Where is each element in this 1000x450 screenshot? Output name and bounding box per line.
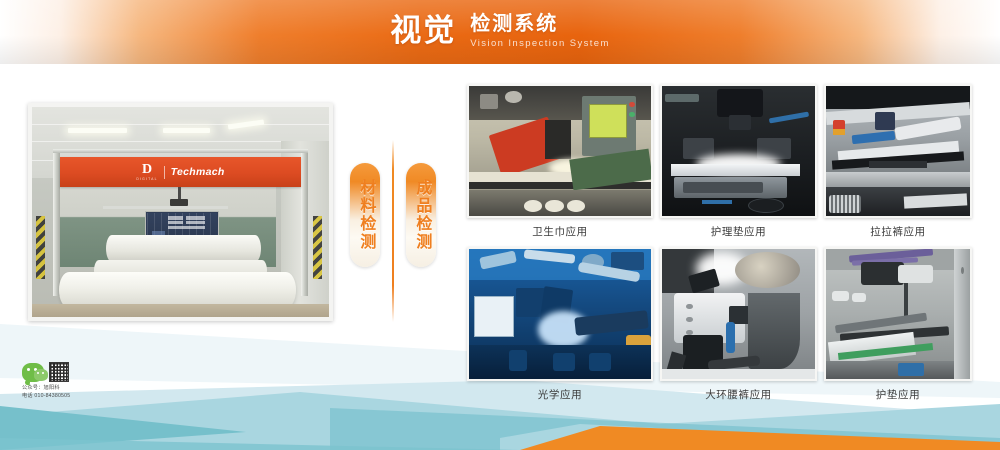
page-title-sub: 检测系统 — [470, 13, 610, 35]
slide-canvas: 视觉 检测系统 Vision Inspection System — [0, 0, 1000, 450]
wechat-icon — [22, 363, 44, 382]
machine-brand-banner: D DIGITAL Techmach — [60, 157, 301, 186]
thumbnail-care-pad[interactable] — [660, 84, 817, 218]
page-title-main: 视觉 — [390, 15, 456, 46]
page-title-english: Vision Inspection System — [470, 38, 610, 49]
brand-logo-subtext: DIGITAL — [136, 177, 157, 181]
thumbnail-big-waist-pants[interactable] — [660, 247, 817, 381]
thumbnail-pull-up-pants[interactable] — [824, 84, 972, 218]
qr-code-icon[interactable] — [49, 362, 69, 382]
thumbnail-caption-big-waist-pants: 大环腰裤应用 — [660, 387, 817, 402]
brand-logo-mark: D — [142, 163, 152, 177]
category-pill-material[interactable]: 材料检测 — [350, 163, 380, 267]
category-pill-material-label: 材料检测 — [357, 179, 374, 251]
thumbnail-caption-pull-up-pants: 拉拉裤应用 — [824, 224, 972, 239]
category-pill-finished[interactable]: 成品检测 — [406, 163, 436, 267]
main-product-photo: D DIGITAL Techmach — [28, 103, 333, 321]
wechat-account-label: 公众号：旭阳科 — [22, 384, 142, 392]
contact-block: 公众号：旭阳科 电话 010-84380505 — [22, 362, 142, 401]
category-divider — [392, 140, 394, 322]
brand-divider — [164, 166, 165, 179]
thumbnail-optical[interactable] — [467, 247, 653, 381]
thumbnail-caption-sanitary-napkin: 卫生巾应用 — [467, 224, 653, 239]
thumbnail-caption-care-pad: 护理垫应用 — [660, 224, 817, 239]
brand-name: Techmach — [171, 166, 225, 178]
phone-label: 电话 010-84380505 — [22, 392, 142, 400]
category-pill-finished-label: 成品检测 — [413, 179, 430, 251]
page-header: 视觉 检测系统 Vision Inspection System — [0, 0, 1000, 64]
thumbnail-caption-panty-liner: 护垫应用 — [824, 387, 972, 402]
thumbnail-panty-liner[interactable] — [824, 247, 972, 381]
thumbnail-caption-optical: 光学应用 — [467, 387, 653, 402]
thumbnail-sanitary-napkin[interactable] — [467, 84, 653, 218]
